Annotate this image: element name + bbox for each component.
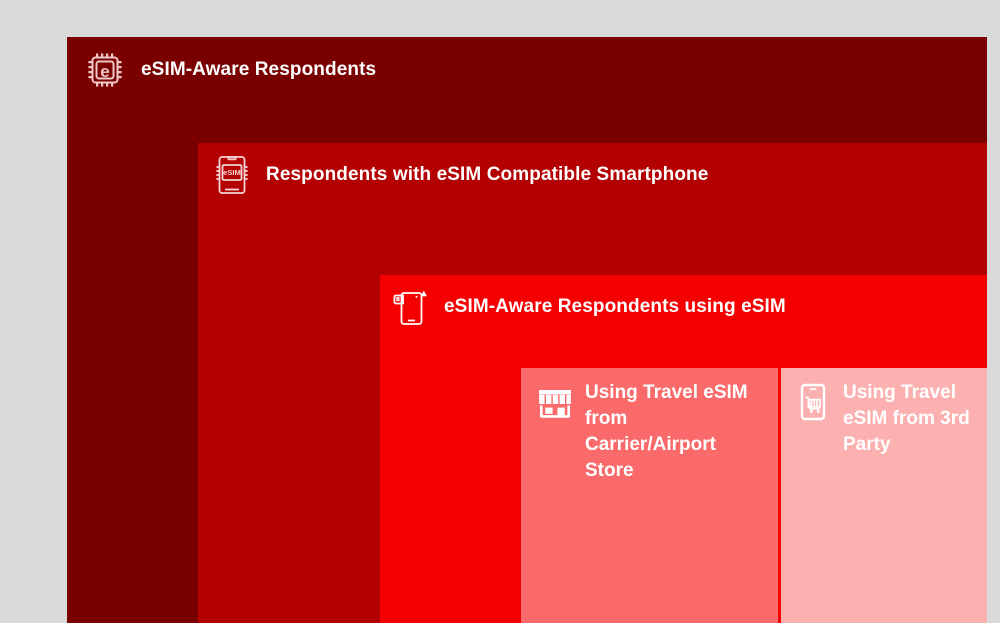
- funnel-level-5-body: Using Travel eSIM from 3rd Party: [781, 368, 987, 458]
- funnel-level-3-label: eSIM-Aware Respondents using eSIM: [444, 296, 786, 318]
- funnel-level-1-label: eSIM-Aware Respondents: [141, 59, 376, 81]
- funnel-level-third-party[interactable]: Using Travel eSIM from 3rd Party: [781, 368, 987, 623]
- esim-chip-icon: e: [85, 48, 125, 92]
- funnel-level-1-header: e eSIM-Aware Respondents: [67, 37, 987, 92]
- funnel-level-5-label: Using Travel eSIM from 3rd Party: [843, 380, 971, 458]
- funnel-level-4-label: Using Travel eSIM from Carrier/Airport S…: [585, 380, 750, 484]
- phone-cart-icon: [793, 380, 833, 424]
- storefront-icon: [535, 380, 575, 424]
- sim-label: eSIM: [223, 168, 241, 177]
- funnel-level-2-label: Respondents with eSIM Compatible Smartph…: [266, 164, 708, 186]
- funnel-level-carrier-airport-store[interactable]: Using Travel eSIM from Carrier/Airport S…: [521, 368, 778, 623]
- chip-letter: e: [100, 62, 109, 81]
- esim-smartphone-icon: eSIM: [212, 153, 252, 197]
- funnel-level-2-header: eSIM Respondents with eSIM Compatible Sm…: [198, 143, 987, 197]
- phone-sim-insert-icon: [390, 285, 430, 329]
- funnel-chart-canvas: e eSIM-Aware Respondents: [0, 0, 1000, 640]
- funnel-level-4-body: Using Travel eSIM from Carrier/Airport S…: [521, 368, 778, 484]
- funnel-level-3-header: eSIM-Aware Respondents using eSIM: [380, 275, 987, 329]
